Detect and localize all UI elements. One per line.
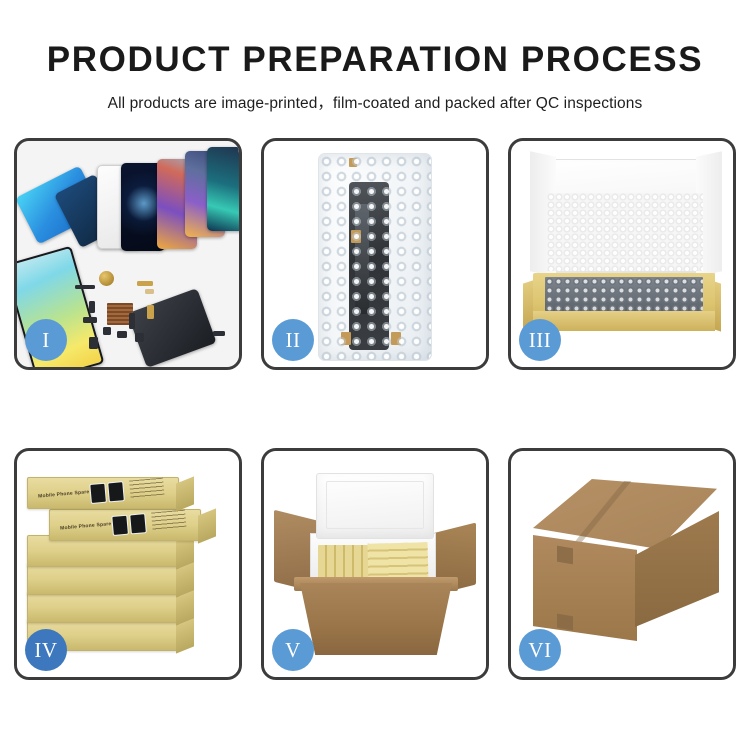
- process-step-panel-2: II: [261, 138, 489, 370]
- carton-front-face: [533, 535, 637, 641]
- kraft-box-front: [533, 311, 715, 331]
- tape-tab-top: [349, 158, 357, 167]
- spare-part-small-4: [117, 331, 127, 338]
- header: PRODUCT PREPARATION PROCESS All products…: [0, 0, 750, 113]
- box-label-phone-image-1: [89, 483, 107, 504]
- carton-body: [300, 583, 452, 655]
- box-label-phone-image-2: [129, 513, 147, 534]
- retail-box-upper: Mobile Phone Spare Parts: [49, 509, 201, 541]
- carton-tape-lower: [557, 614, 573, 631]
- wrapped-spare-part: [349, 182, 389, 350]
- page-subtitle: All products are image-printed，film-coat…: [0, 79, 750, 113]
- retail-box-top: Mobile Phone Spare Parts: [27, 477, 179, 509]
- retail-box-label-upper: Mobile Phone Spare Parts: [59, 507, 188, 540]
- spare-part-small-1: [89, 301, 95, 313]
- carton-tape-upper: [557, 546, 573, 565]
- step-badge-4: IV: [25, 629, 67, 671]
- step-badge-6: VI: [519, 629, 561, 671]
- step-badge-3: III: [519, 319, 561, 361]
- spare-part-small-3: [103, 327, 111, 335]
- tape-tab-lower-right: [391, 332, 401, 345]
- styrofoam-lid: [316, 473, 434, 539]
- bubble-wrap-layer: [545, 277, 703, 311]
- spare-part-tan-chip: [145, 289, 154, 294]
- box-label-spec-lines: [129, 478, 164, 499]
- bubble-wrap-bag: [318, 153, 432, 361]
- phone-back-housing: [127, 288, 216, 367]
- speaker-part: [99, 271, 114, 286]
- retail-box-bottom-2: [27, 591, 179, 623]
- process-step-panel-1: I: [14, 138, 242, 370]
- box-label-phone-image-1: [111, 515, 129, 536]
- process-step-panel-3: III: [508, 138, 736, 370]
- spare-part-gold-flex: [137, 281, 153, 286]
- packed-retail-boxes-row-2: [368, 542, 429, 582]
- process-step-grid: I II III: [14, 138, 736, 680]
- spare-part-screwdriver: [213, 331, 225, 336]
- step-6-illustration: VI: [511, 451, 733, 677]
- process-step-panel-4: Mobile Phone Spare Parts Mobile Phone Sp…: [14, 448, 242, 680]
- process-step-panel-5: V: [261, 448, 489, 680]
- step-3-illustration: III: [511, 141, 733, 367]
- spare-part-small-5: [135, 333, 144, 342]
- phone-screen-teal: [207, 147, 239, 231]
- step-4-illustration: Mobile Phone Spare Parts Mobile Phone Sp…: [17, 451, 239, 677]
- box-side-face: [198, 508, 216, 543]
- step-badge-2: II: [272, 319, 314, 361]
- spare-part-small-2: [83, 317, 97, 323]
- step-5-illustration: V: [264, 451, 486, 677]
- spare-part-gold-small: [147, 305, 154, 319]
- foam-insert: [547, 193, 703, 271]
- spare-part-small-6: [89, 337, 98, 349]
- tape-tab-upper: [351, 230, 361, 243]
- tape-tab-lower-left: [341, 332, 351, 345]
- box-side-face: [176, 476, 194, 511]
- page-title: PRODUCT PREPARATION PROCESS: [0, 0, 750, 79]
- step-1-illustration: I: [17, 141, 239, 367]
- box-label-spec-lines: [151, 510, 186, 531]
- retail-box-bottom-3: [27, 563, 179, 595]
- spare-part-chip: [75, 285, 95, 289]
- process-step-panel-6: VI: [508, 448, 736, 680]
- step-badge-5: V: [272, 629, 314, 671]
- box-label-phone-image-2: [107, 481, 125, 502]
- spare-part-flex-cable: [129, 313, 135, 329]
- step-2-illustration: II: [264, 141, 486, 367]
- retail-box-label-top: Mobile Phone Spare Parts: [37, 475, 166, 508]
- step-badge-1: I: [25, 319, 67, 361]
